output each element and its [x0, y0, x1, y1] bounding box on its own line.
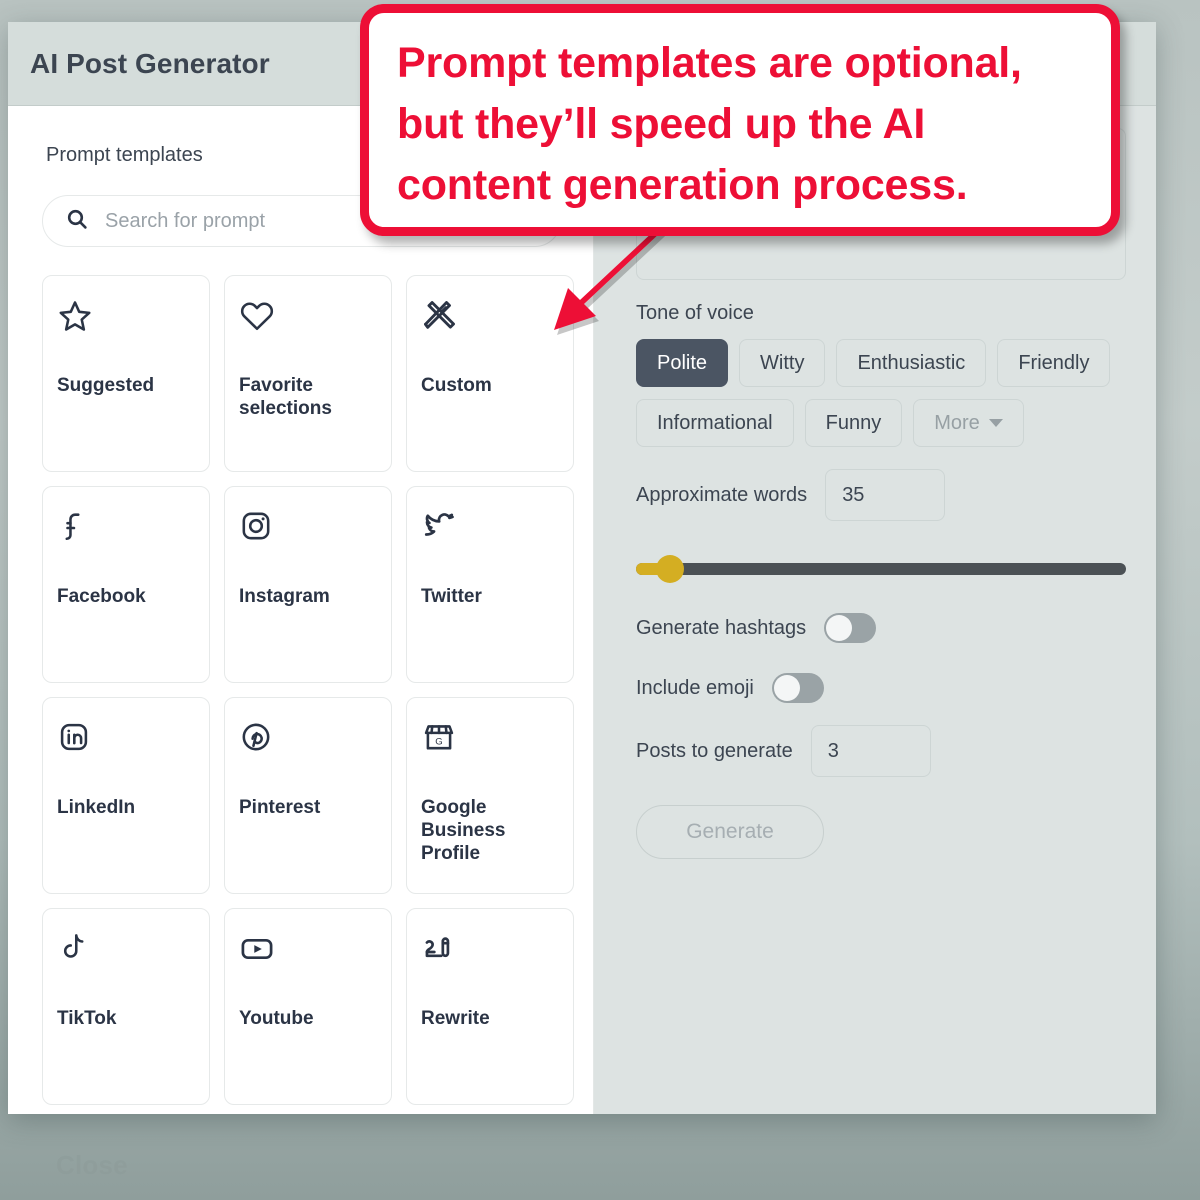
generate-hashtags-label: Generate hashtags: [636, 617, 806, 640]
template-label: Instagram: [239, 585, 377, 608]
template-label: Custom: [421, 374, 559, 397]
slider-track[interactable]: [636, 563, 1126, 575]
annotation-text: Prompt templates are optional, but they’…: [397, 33, 1083, 216]
include-emoji-row: Include emoji: [636, 673, 1126, 703]
annotation-callout: Prompt templates are optional, but they’…: [360, 4, 1120, 236]
close-link[interactable]: Close: [56, 1150, 128, 1181]
generate-hashtags-row: Generate hashtags: [636, 613, 1126, 643]
prompt-templates-panel: Prompt templates: [8, 106, 594, 1114]
template-card-linkedin[interactable]: LinkedIn: [42, 697, 210, 894]
include-emoji-toggle[interactable]: [772, 673, 824, 703]
storefront-icon: G: [421, 720, 559, 782]
template-card-google-business-profile[interactable]: G Google Business Profile: [406, 697, 574, 894]
template-label: Rewrite: [421, 1007, 559, 1030]
template-card-favorite-selections[interactable]: Favorite selections: [224, 275, 392, 472]
template-label: LinkedIn: [57, 796, 195, 819]
toggle-knob: [774, 675, 800, 701]
template-label: Facebook: [57, 585, 195, 608]
rewrite-pen-icon: [421, 931, 559, 993]
pinterest-icon: [239, 720, 377, 782]
template-card-youtube[interactable]: Youtube: [224, 908, 392, 1105]
approximate-words-row: Approximate words: [636, 469, 1126, 521]
template-card-suggested[interactable]: Suggested: [42, 275, 210, 472]
tone-chip-row-2: Informational Funny More: [636, 399, 1126, 447]
tone-chip-funny[interactable]: Funny: [805, 399, 903, 447]
heart-icon: [239, 298, 377, 360]
posts-to-generate-row: Posts to generate: [636, 725, 1126, 777]
tiktok-note-icon: [57, 931, 195, 993]
search-icon: [65, 207, 89, 236]
template-card-rewrite[interactable]: Rewrite: [406, 908, 574, 1105]
linkedin-icon: [57, 720, 195, 782]
facebook-icon: [57, 509, 195, 571]
template-label: Google Business Profile: [421, 796, 559, 866]
template-label: Pinterest: [239, 796, 377, 819]
approximate-words-input[interactable]: [825, 469, 945, 521]
generate-button[interactable]: Generate: [636, 805, 824, 859]
posts-to-generate-label: Posts to generate: [636, 740, 793, 763]
template-card-facebook[interactable]: Facebook: [42, 486, 210, 683]
template-grid: Suggested Favorite selections: [42, 275, 569, 1105]
pencil-ruler-icon: [421, 298, 559, 360]
tone-chip-informational[interactable]: Informational: [636, 399, 794, 447]
template-card-instagram[interactable]: Instagram: [224, 486, 392, 683]
template-card-pinterest[interactable]: Pinterest: [224, 697, 392, 894]
template-label: TikTok: [57, 1007, 195, 1030]
template-card-twitter[interactable]: Twitter: [406, 486, 574, 683]
approximate-words-slider[interactable]: [636, 555, 1126, 583]
template-label: Youtube: [239, 1007, 377, 1030]
posts-to-generate-input[interactable]: [811, 725, 931, 777]
tone-more-button[interactable]: More: [913, 399, 1024, 447]
tone-chip-friendly[interactable]: Friendly: [997, 339, 1110, 387]
tone-more-label: More: [934, 412, 980, 435]
template-card-tiktok[interactable]: TikTok: [42, 908, 210, 1105]
instagram-icon: [239, 509, 377, 571]
toggle-knob: [826, 615, 852, 641]
desktop-backdrop: Close AI Post Generator Prompt templates: [0, 0, 1200, 1200]
slider-thumb[interactable]: [656, 555, 684, 583]
template-label: Twitter: [421, 585, 559, 608]
svg-text:G: G: [435, 737, 442, 748]
template-label: Suggested: [57, 374, 195, 397]
template-label: Favorite selections: [239, 374, 377, 420]
youtube-play-icon: [239, 931, 377, 993]
generate-hashtags-toggle[interactable]: [824, 613, 876, 643]
tone-chip-witty[interactable]: Witty: [739, 339, 825, 387]
page-title: AI Post Generator: [30, 48, 270, 80]
approximate-words-label: Approximate words: [636, 484, 807, 507]
tone-chip-enthusiastic[interactable]: Enthusiastic: [836, 339, 986, 387]
chevron-down-icon: [989, 419, 1003, 427]
star-icon: [57, 298, 195, 360]
include-emoji-label: Include emoji: [636, 677, 754, 700]
twitter-bird-icon: [421, 509, 559, 571]
